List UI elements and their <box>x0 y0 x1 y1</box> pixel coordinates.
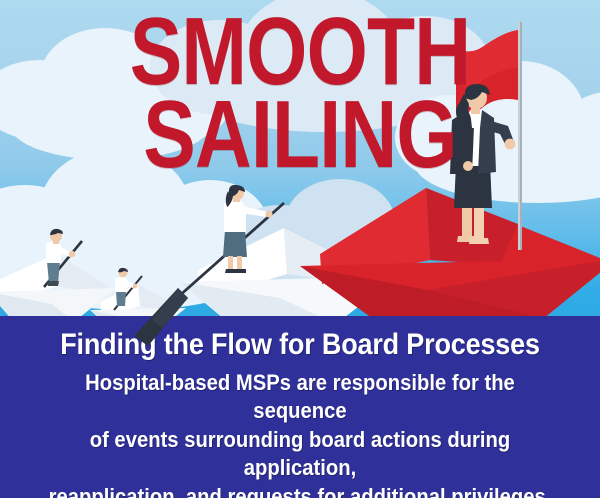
rower-man-left <box>38 229 90 291</box>
banner-body: Hospital-based MSPs are responsible for … <box>24 361 576 498</box>
paddle-blade <box>126 284 196 356</box>
rower-woman <box>212 185 302 285</box>
leader-woman <box>438 86 548 266</box>
banner-section: Finding the Flow for Board Processes Hos… <box>0 316 600 498</box>
banner-body-line-1: Hospital-based MSPs are responsible for … <box>44 369 556 426</box>
banner-body-line-2: of events surrounding board actions duri… <box>44 426 556 483</box>
banner-heading: Finding the Flow for Board Processes <box>30 316 570 361</box>
infographic-poster: SMOOTH SAILING <box>0 0 600 498</box>
banner-body-line-3: reapplication, and requests for addition… <box>44 483 556 498</box>
